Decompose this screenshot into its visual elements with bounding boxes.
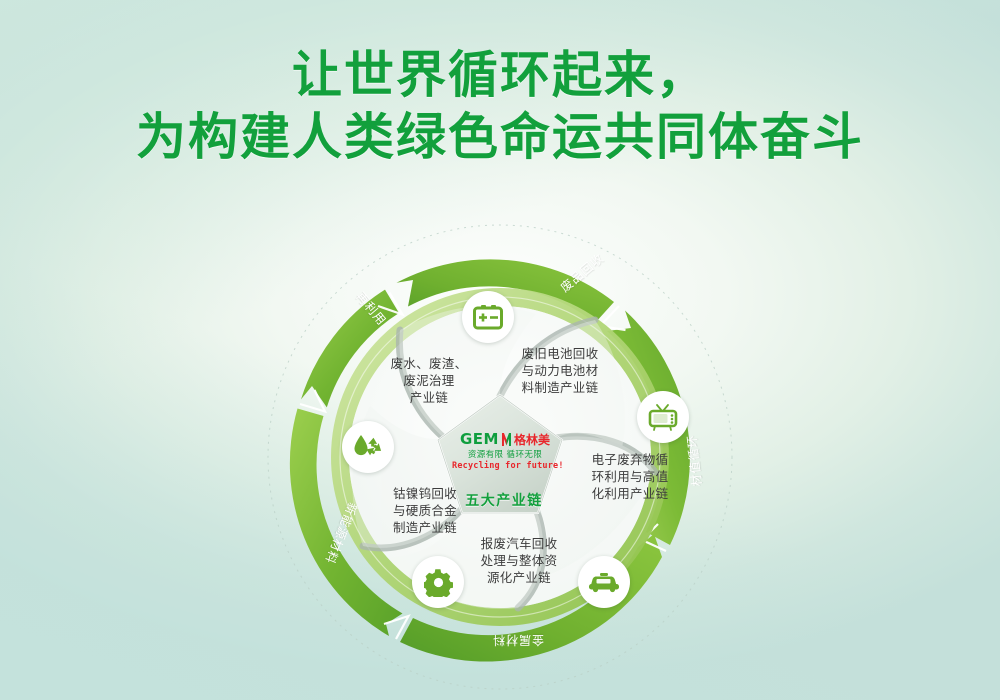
gem-logo-chinese-name: 格林美: [514, 434, 550, 446]
gem-logo-row: GEM 格林美: [452, 432, 558, 447]
gem-slogan-en: Recycling for future!: [452, 461, 558, 471]
title-line-2: 为构建人类绿色命运共同体奋斗: [0, 106, 1000, 168]
tv-icon-bubble: [637, 391, 689, 443]
water-recycle-icon-bubble: [342, 421, 394, 473]
car-icon-bubble: [578, 556, 630, 608]
segment-label-waste-battery: 废旧电池回收 与动力电池材 料制造产业链: [498, 345, 622, 396]
center-hub: GEM 格林美 资源有限 循环无限 Recycling for future! …: [444, 418, 564, 526]
tv-icon: [648, 403, 678, 432]
page-title: 让世界循环起来， 为构建人类绿色命运共同体奋斗: [0, 44, 1000, 168]
battery-icon-bubble: [462, 291, 514, 343]
title-line-1: 让世界循环起来，: [0, 44, 1000, 106]
gem-slogan-cn: 资源有限 循环无限: [452, 448, 558, 460]
gem-logo-mark-icon: [502, 433, 511, 446]
segment-label-e-waste: 电子废弃物循 环利用与高值 化利用产业链: [578, 451, 682, 502]
gem-logo: GEM 格林美 资源有限 循环无限 Recycling for future!: [452, 432, 558, 471]
segment-label-wastewater-slag-sludge: 废水、废渣、 废泥治理 产业链: [372, 355, 486, 406]
infographic-canvas: 让世界循环起来， 为构建人类绿色命运共同体奋斗: [0, 0, 1000, 700]
segment-label-scrap-vehicle: 报废汽车回收 处理与整体资 源化产业链: [463, 535, 575, 586]
ring-label-metal-materials: 金属材料: [492, 632, 544, 649]
hub-title: 五大产业链: [444, 490, 564, 510]
car-icon: [588, 571, 620, 593]
gem-logo-text: GEM: [460, 432, 499, 447]
water-recycle-icon: [352, 433, 384, 461]
gear-icon-bubble: [412, 556, 464, 608]
battery-icon: [473, 304, 503, 330]
gear-icon: [424, 568, 453, 597]
